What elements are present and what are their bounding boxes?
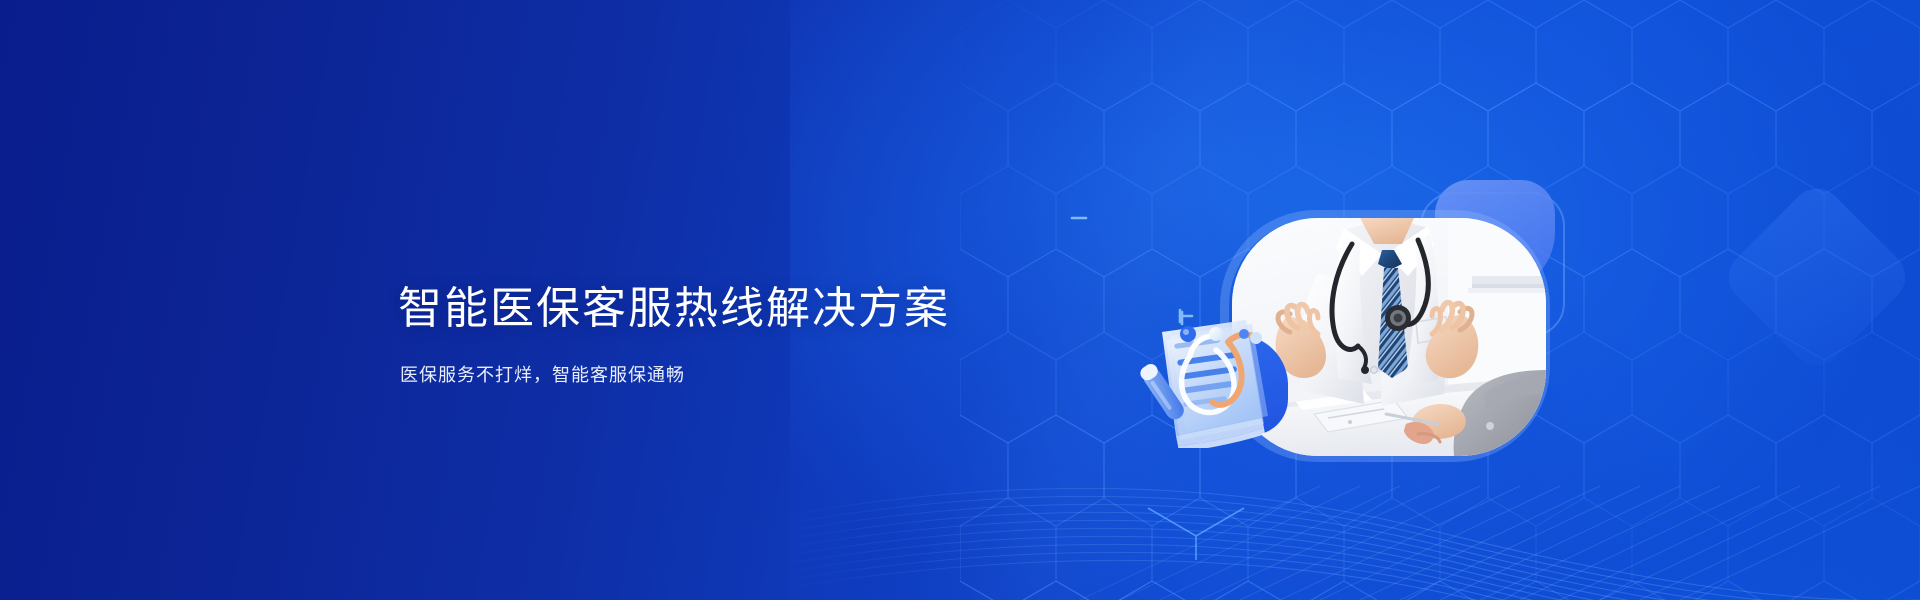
hero-copy: 智能医保客服热线解决方案 医保服务不打烊，智能客服保通畅: [398, 280, 1118, 388]
page-title: 智能医保客服热线解决方案: [398, 280, 1118, 338]
hero-media: [1180, 150, 1620, 510]
hero-banner: 智能医保客服热线解决方案 医保服务不打烊，智能客服保通畅: [0, 0, 1920, 600]
page-subtitle: 医保服务不打烊，智能客服保通畅: [400, 362, 1118, 388]
prescription-clipboard-illustration: [1132, 298, 1322, 448]
